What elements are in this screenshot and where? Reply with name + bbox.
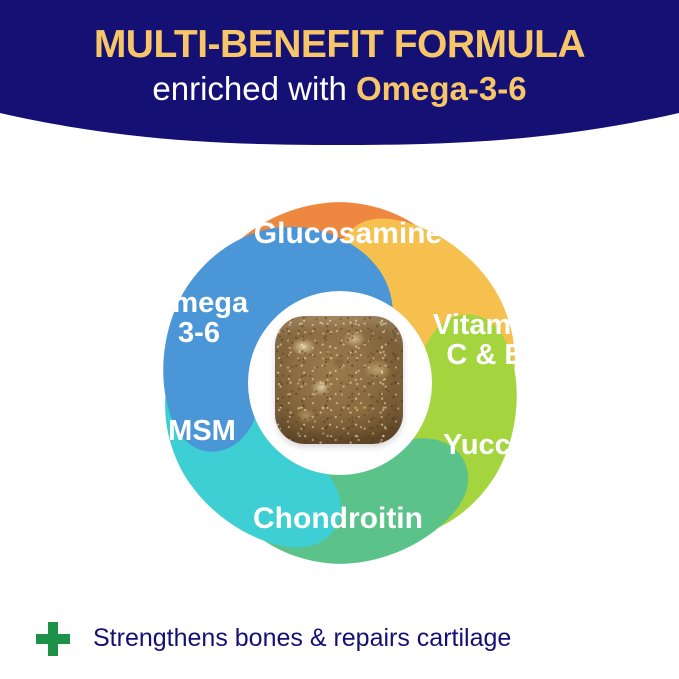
- soft-chew-treat-image: [275, 316, 403, 444]
- plus-icon-vertical-bar: [48, 622, 58, 656]
- header-text-block: MULTI-BENEFIT FORMULA enriched with Omeg…: [0, 0, 679, 132]
- page-title: MULTI-BENEFIT FORMULA: [94, 25, 585, 65]
- product-infographic: MULTI-BENEFIT FORMULA enriched with Omeg…: [0, 0, 679, 679]
- header-banner: MULTI-BENEFIT FORMULA enriched with Omeg…: [0, 0, 679, 150]
- benefit-text: Strengthens bones & repairs cartilage: [93, 625, 511, 653]
- subtitle-emphasis: Omega-3-6: [356, 70, 527, 107]
- plus-icon: [36, 622, 70, 656]
- benefit-row: Strengthens bones & repairs cartilage: [0, 608, 679, 670]
- page-subtitle: enriched with Omega-3-6: [152, 72, 526, 107]
- subtitle-prefix: enriched with: [152, 70, 356, 107]
- ingredient-wheel: Glucosamine Vitamin C & E Yucca Chondroi…: [105, 148, 575, 618]
